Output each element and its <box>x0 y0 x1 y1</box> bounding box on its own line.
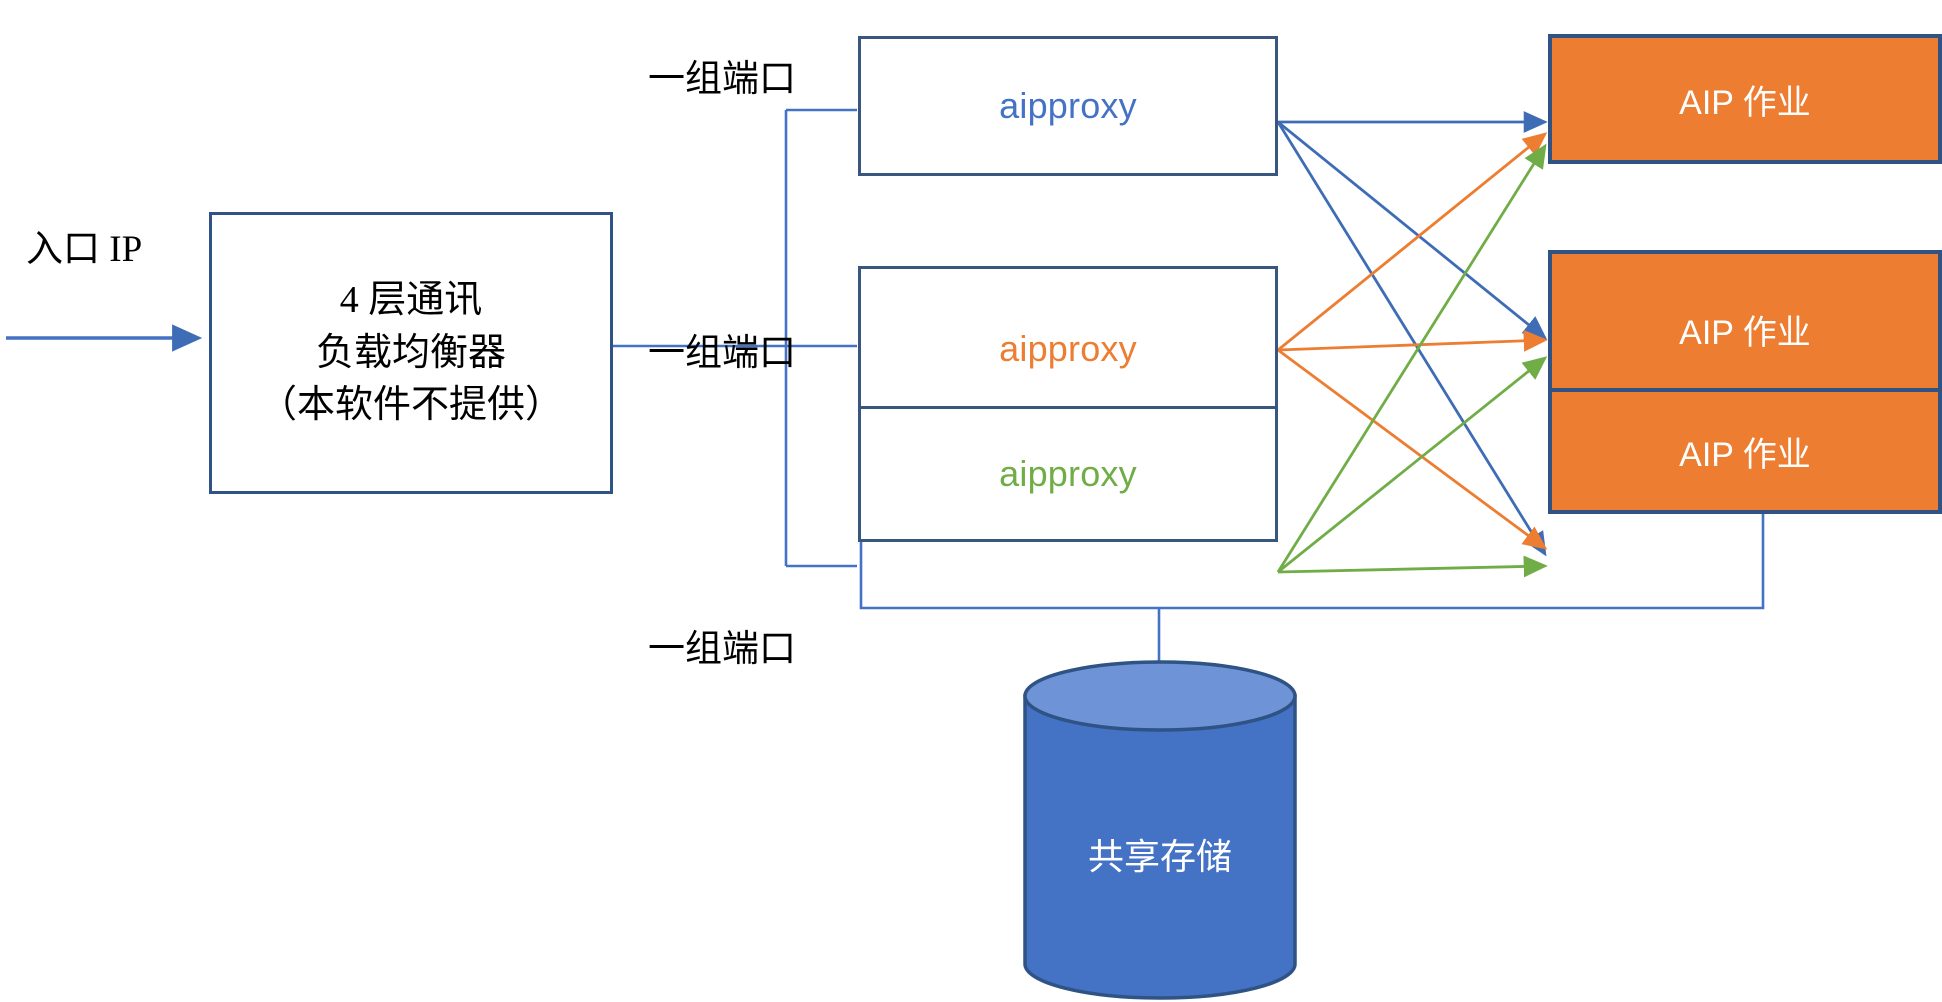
port-group-label-3: 一组端口 <box>648 618 796 672</box>
proxy1-to-jobs <box>1278 122 1545 554</box>
aip-job-label-3: AIP 作业 <box>1679 427 1811 476</box>
port-group-label-2: 一组端口 <box>648 322 796 376</box>
load-balancer-line-3: （本软件不提供） <box>259 379 563 431</box>
aip-job-label-1: AIP 作业 <box>1679 75 1811 124</box>
aipproxy-box-3[interactable]: aipproxy <box>858 406 1278 542</box>
port-group-label-1: 一组端口 <box>648 48 796 102</box>
entry-ip-label: 入口 IP <box>26 218 142 272</box>
load-balancer-line-1: 4 层通讯 <box>340 274 483 326</box>
cylinder-shape <box>1020 660 1300 1000</box>
load-balancer-line-2: 负载均衡器 <box>316 327 506 379</box>
proxy2-to-jobs <box>1278 134 1545 548</box>
aip-job-box-2[interactable]: AIP 作业 <box>1548 250 1942 408</box>
aipproxy-label-2: aipproxy <box>999 328 1137 370</box>
aipproxy-box-1[interactable]: aipproxy <box>858 36 1278 176</box>
aipproxy-label-1: aipproxy <box>999 85 1137 127</box>
proxy3-to-jobs <box>1278 146 1545 572</box>
load-balancer-box[interactable]: 4 层通讯 负载均衡器 （本软件不提供） <box>209 212 613 494</box>
shared-storage-cylinder[interactable]: 共享存储 <box>1020 660 1300 1000</box>
aip-job-label-2: AIP 作业 <box>1679 305 1811 354</box>
diagram-canvas: 入口 IP 4 层通讯 负载均衡器 （本软件不提供） 一组端口 一组端口 一组端… <box>0 0 1942 1002</box>
aip-job-box-3[interactable]: AIP 作业 <box>1548 388 1942 514</box>
aipproxy-label-3: aipproxy <box>999 453 1137 495</box>
aip-job-box-1[interactable]: AIP 作业 <box>1548 34 1942 164</box>
